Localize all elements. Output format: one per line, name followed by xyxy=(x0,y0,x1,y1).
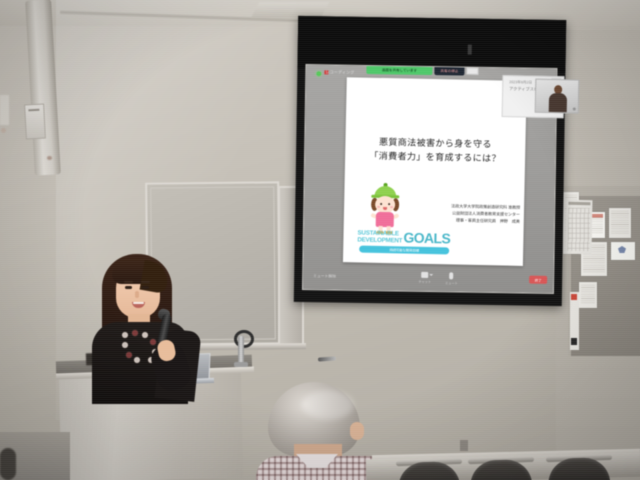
notice-poster xyxy=(579,282,597,308)
strip-red-marker xyxy=(571,294,577,300)
mute-button[interactable]: ミュート xyxy=(445,272,458,285)
slide-title-line-2: 「消費者力」を育成するには？ xyxy=(345,149,525,167)
sdg-line-2: DEVELOPMENT xyxy=(357,236,402,244)
affiliation-line-3: 理事・客員主任研究員 押野 成美 xyxy=(440,217,520,225)
zoom-toolbar: ミュート解除 チャット ミュート 終了 xyxy=(307,269,551,289)
screen-share-label: 画面を共有しています xyxy=(382,68,417,74)
zoom-toolbar-left-label[interactable]: ミュート解除 xyxy=(313,274,336,279)
microphone-holder-hook xyxy=(234,330,254,348)
notice-certificate xyxy=(611,242,635,260)
projector-screen: レコーディング 悪質商法被害から身を守る 「消費者力」を育成するには？ xyxy=(294,16,566,306)
screen-share-banner: 画面を共有しています xyxy=(366,66,432,75)
chat-button[interactable]: チャット xyxy=(418,272,431,285)
schedule-title xyxy=(568,202,590,205)
zoom-toolbar-center: チャット ミュート xyxy=(403,272,473,286)
chat-icon xyxy=(421,272,428,278)
audience-ear xyxy=(350,422,364,440)
microphone-icon xyxy=(450,272,454,279)
wall-strip xyxy=(570,292,579,350)
notice-text-lines xyxy=(611,211,629,235)
mascot-character-icon xyxy=(368,186,403,235)
recording-indicator-icon xyxy=(316,71,321,76)
wall-outlet xyxy=(460,440,468,451)
notice-text-lines xyxy=(581,285,595,305)
sdg-tagline: 持続可能な開発目標 xyxy=(389,247,419,253)
presentation-slide: 悪質商法被害から身を守る 「消費者力」を育成するには？ SUSTAINABLE xyxy=(343,77,527,266)
end-meeting-button[interactable]: 終了 xyxy=(529,276,547,284)
emblem-icon xyxy=(618,246,626,253)
video-panel-date: 2023年9月2日 xyxy=(509,80,532,85)
notice-poster xyxy=(609,208,631,238)
slide-affiliation: 法政大学大学院政策創造研究科 准教授 公益財団法人消費者教育支援センター 理事・… xyxy=(440,203,520,225)
participant-video-panel[interactable]: 2023年9月2日 アクティブスピーカー xyxy=(502,75,565,118)
wall-plate xyxy=(0,95,9,125)
sdg-wordmark: GOALS xyxy=(403,229,450,246)
audience-hair-highlight xyxy=(302,390,354,420)
microphone-stand-base xyxy=(234,362,248,367)
chevron-down-icon xyxy=(429,274,433,276)
wall-fixture xyxy=(24,104,46,140)
mute-label: ミュート xyxy=(445,280,458,285)
foreground-object xyxy=(0,448,16,480)
share-options-tab[interactable] xyxy=(466,68,478,75)
strip-black-marker xyxy=(571,338,577,345)
slide-title: 悪質商法被害から身を守る 「消費者力」を育成するには？ xyxy=(345,135,526,167)
sdg-logo: SUSTAINABLE DEVELOPMENT GOALS 持続可能な開発目標 xyxy=(357,229,450,257)
video-status-dot xyxy=(573,107,576,110)
stop-share-label: 共有の停止 xyxy=(440,69,458,74)
stop-share-button[interactable]: 共有の停止 xyxy=(434,67,464,75)
column-marking xyxy=(47,156,52,160)
recording-label: レコーディング xyxy=(325,69,354,75)
schedule-poster xyxy=(566,200,593,254)
participant-video-tile[interactable] xyxy=(535,79,580,114)
photo-scene: レコーディング 悪質商法被害から身を守る 「消費者力」を育成するには？ xyxy=(0,0,640,480)
sdg-tagline-bar: 持続可能な開発目標 xyxy=(359,246,449,255)
schedule-grid xyxy=(568,208,591,251)
chat-label: チャット xyxy=(418,279,431,284)
end-meeting-label: 終了 xyxy=(535,277,542,282)
projected-image: レコーディング 悪質商法被害から身を守る 「消費者力」を育成するには？ xyxy=(302,64,558,294)
screen-roller-bracket xyxy=(468,45,472,55)
presenter-person xyxy=(86,252,206,392)
participant-body xyxy=(549,93,567,113)
wall-plate-indicator xyxy=(1,128,6,133)
